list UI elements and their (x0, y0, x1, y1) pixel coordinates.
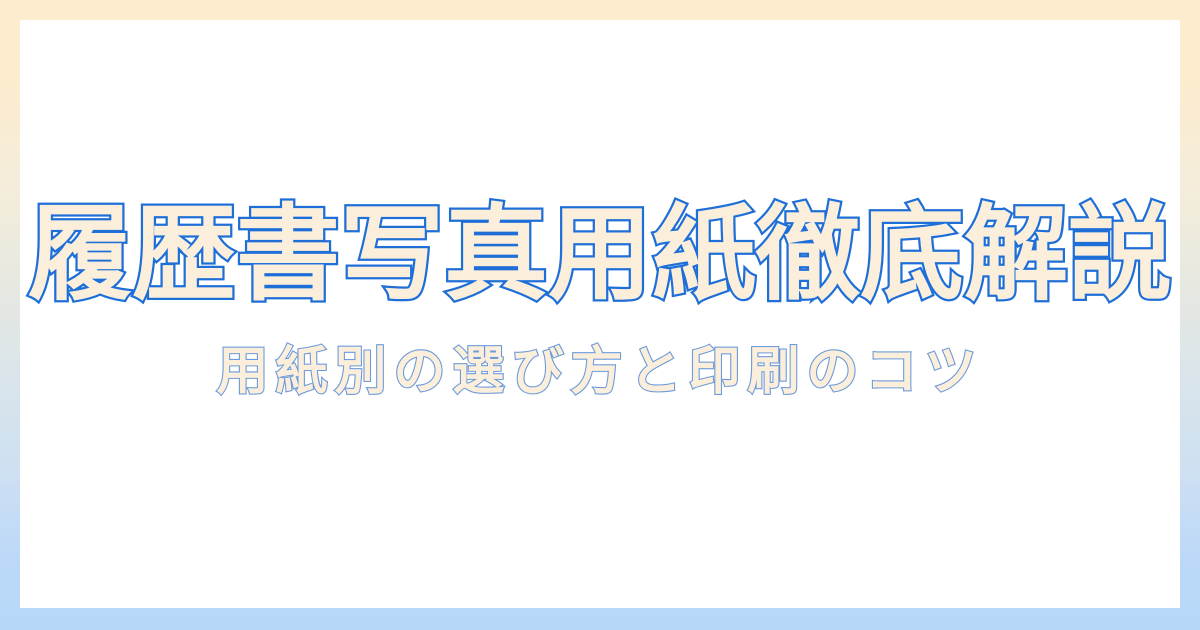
banner-subtitle: 用紙別の選び方と印刷のコツ (20, 343, 1180, 403)
card-inner: 履歴書写真用紙徹底解説 用紙別の選び方と印刷のコツ (20, 199, 1180, 403)
banner-title: 履歴書写真用紙徹底解説 (20, 199, 1180, 309)
banner-frame: 履歴書写真用紙徹底解説 用紙別の選び方と印刷のコツ (0, 0, 1200, 630)
content-card: 履歴書写真用紙徹底解説 用紙別の選び方と印刷のコツ (20, 20, 1180, 608)
